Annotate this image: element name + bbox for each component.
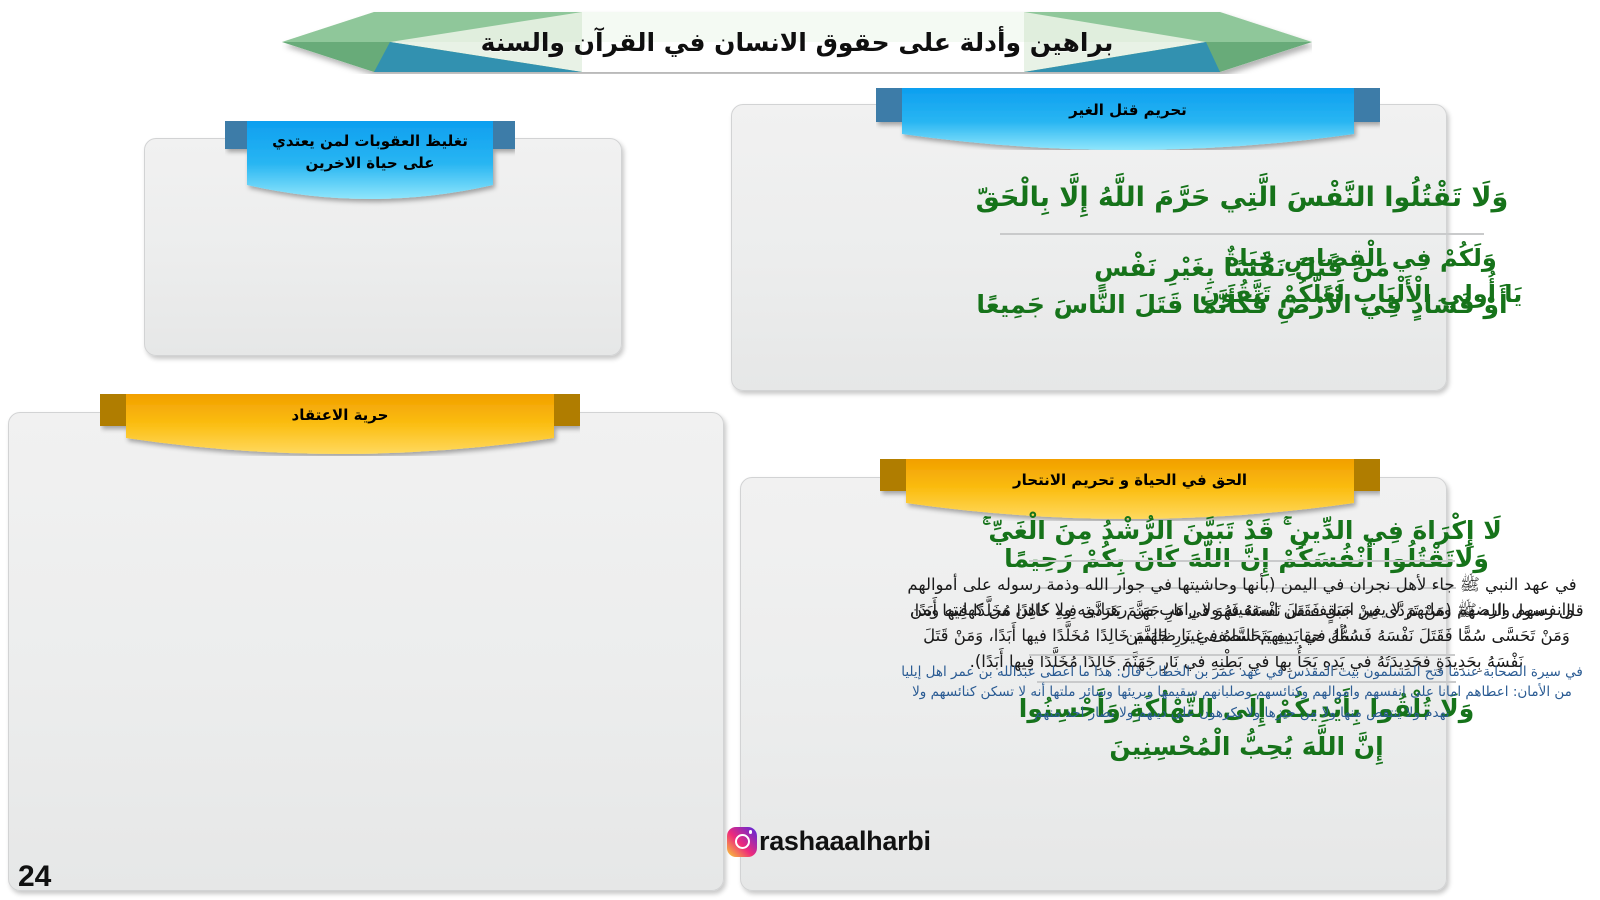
panel-murder-divider [1000, 233, 1484, 235]
ribbon-punishment: تغليظ العقوبات لمن يعتدي على حياة الاخري… [225, 121, 515, 209]
page-number: 24 [18, 860, 51, 894]
panel-belief [8, 412, 724, 891]
slide-title-banner: براهين وأدلة على حقوق الانسان في القرآن … [282, 10, 1312, 74]
panel-punishment-ayah-line-2: يَا أُولِي الْأَلْبَابِ لَعَلَّكُمْ تَتَ… [1136, 276, 1586, 312]
panel-belief-body: لَا إِكْرَاهَ فِي الدِّينِ ۚ قَدْ تَبَيَ… [884, 512, 1600, 723]
panel-punishment-ayah-line-1: وَلَكُمْ فِي الْقِصَاصِ حَيَاةٌ [1136, 240, 1586, 276]
instagram-watermark: rashaaalharbi [727, 826, 931, 857]
panel-life-ayah-2-line-2: إِنَّ اللَّهَ يُحِبُّ الْمُحْسِنِينَ [909, 728, 1584, 766]
panel-belief-divider-2 [1029, 654, 1456, 656]
panel-punishment-body: وَلَكُمْ فِي الْقِصَاصِ حَيَاةٌ يَا أُول… [1122, 240, 1600, 312]
panel-belief-divider-1 [1029, 560, 1456, 562]
panel-belief-blue-paragraph: في سيرة الصحابة عندما فتح المسلمون بيت ا… [898, 662, 1586, 723]
instagram-handle: rashaaalharbi [759, 826, 931, 857]
panel-murder-ayah-1: وَلَا تَقْتُلُوا النَّفْسَ الَّتِي حَرَّ… [906, 178, 1578, 219]
panel-belief-ayah: لَا إِكْرَاهَ فِي الدِّينِ ۚ قَدْ تَبَيَ… [898, 512, 1586, 550]
instagram-icon [727, 827, 757, 857]
ribbon-belief: حرية الاعتقاد [100, 394, 580, 456]
page-title: براهين وأدلة على حقوق الانسان في القرآن … [282, 10, 1312, 74]
panel-belief-paragraph: في عهد النبي ﷺ جاء لأهل نجران في اليمن (… [898, 572, 1586, 649]
ribbon-murder: تحريم قتل الغير [876, 88, 1380, 150]
